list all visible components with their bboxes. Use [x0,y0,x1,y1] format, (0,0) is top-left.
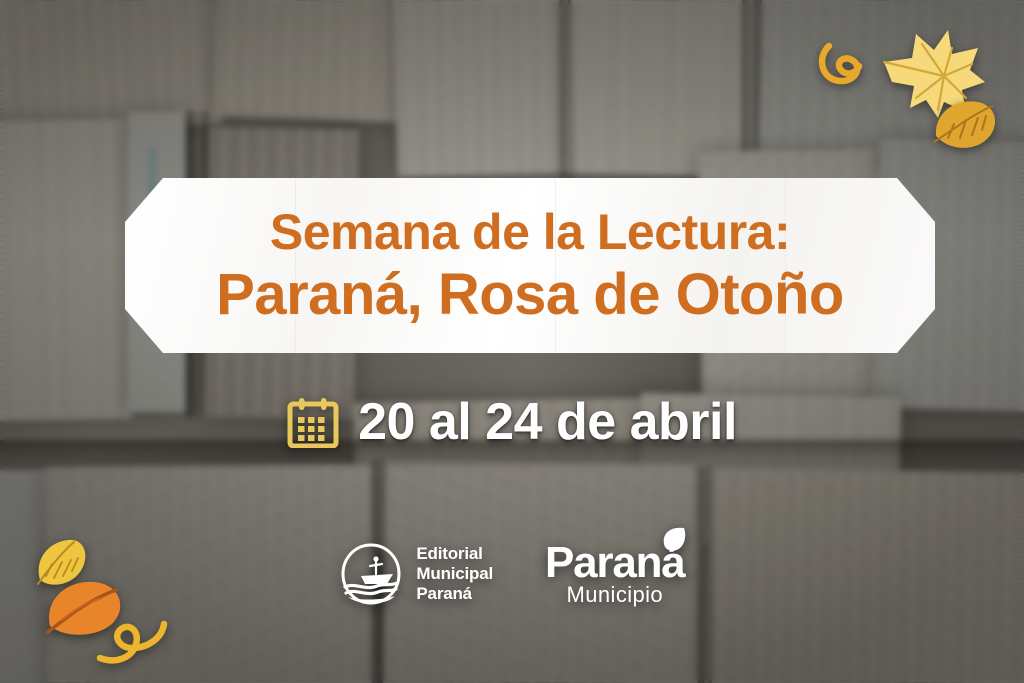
swirl-bottom-left-icon [96,614,172,668]
logo-parana-municipio: Paraná Municipio [545,541,685,607]
leaf-accent-icon [658,525,688,555]
editorial-logo-text: Editorial Municipal Paraná [416,544,493,603]
title-line-2: Paraná, Rosa de Otoño [216,266,844,324]
date-row: 20 al 24 de abril [0,392,1024,452]
oval-leaf-top-right-icon [930,96,1002,150]
title-line-1: Semana de la Lectura: [270,207,790,257]
date-text: 20 al 24 de abril [358,392,737,452]
calendar-icon [287,396,339,448]
swirl-top-right-icon [818,36,884,92]
boat-circle-icon [339,540,403,608]
title-banner: Semana de la Lectura: Paraná, Rosa de Ot… [125,178,935,353]
logo-editorial-municipal-parana: Editorial Municipal Paraná [339,540,493,608]
poster: Semana de la Lectura: Paraná, Rosa de Ot… [0,0,1024,683]
logo-row: Editorial Municipal Paraná Paraná Munici… [0,540,1024,608]
